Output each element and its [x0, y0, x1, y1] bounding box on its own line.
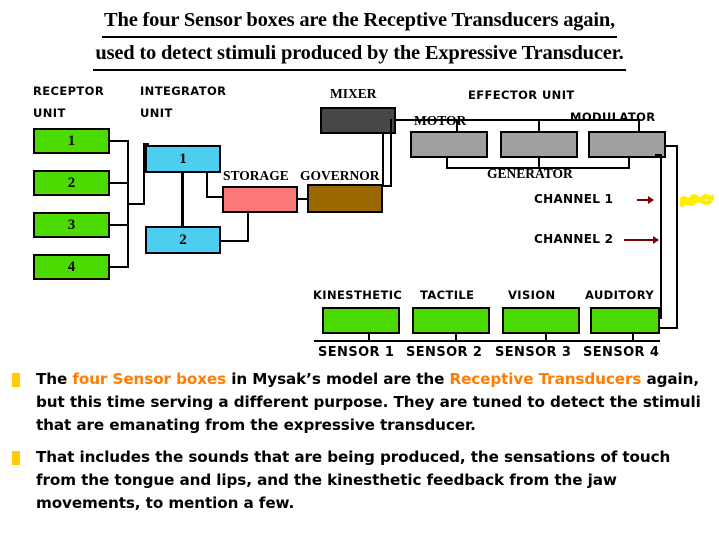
receptor-box-4[interactable]: 4 [33, 254, 110, 280]
sensor-box-3[interactable] [502, 307, 580, 334]
receptor-box-1[interactable]: 1 [33, 128, 110, 154]
integrator-box-1-label: 1 [179, 151, 187, 168]
sensor-4-bottom-label: SENSOR 4 [583, 345, 659, 360]
slide-title: The four Sensor boxes are the Receptive … [0, 6, 719, 71]
wire-right-rail-outer-bottom [660, 327, 678, 329]
bullet-2-seg-0: That includes the sounds that are being … [36, 448, 670, 512]
sensor-3-bottom-label: SENSOR 3 [495, 345, 571, 360]
label-integrator-unit-line2: UNIT [140, 106, 173, 120]
label-effector-unit: EFFECTOR UNIT [468, 88, 575, 102]
bullet-list: The four Sensor boxes in Mysak’s model a… [0, 368, 719, 524]
storage-box[interactable] [222, 186, 298, 213]
list-item: The four Sensor boxes in Mysak’s model a… [0, 368, 719, 437]
bullet-marker-icon [12, 373, 20, 387]
wire-right-rail-inner-top [655, 154, 662, 156]
wire-right-rail-inner [660, 154, 662, 304]
wire-sensor-bus [314, 340, 660, 342]
bullet-marker-icon [12, 451, 20, 465]
label-integrator-unit-line1: INTEGRATOR [140, 84, 226, 98]
channel-1-arrow-icon [637, 199, 653, 201]
bullet-1-seg-0: The [36, 370, 72, 388]
wire-integrator2-out [221, 240, 249, 242]
sensor-box-1[interactable] [322, 307, 400, 334]
label-governor: GOVERNOR [300, 168, 380, 184]
governor-box[interactable] [307, 184, 383, 213]
sensor-1-bottom-label: SENSOR 1 [318, 345, 394, 360]
label-motor: MOTOR [414, 113, 466, 129]
channel-1-label: CHANNEL 1 [534, 192, 613, 206]
generator-box[interactable] [500, 131, 578, 158]
label-receptor-unit-line1: RECEPTOR [33, 84, 104, 98]
bullet-1-text: The four Sensor boxes in Mysak’s model a… [36, 370, 701, 434]
title-line-1: The four Sensor boxes are the Receptive … [102, 6, 617, 38]
mixer-box[interactable] [320, 107, 396, 134]
label-receptor-unit-line2: UNIT [33, 106, 66, 120]
yellow-squiggle-icon [680, 192, 714, 208]
integrator-box-2[interactable]: 2 [145, 226, 221, 254]
receptor-box-4-label: 4 [68, 259, 76, 276]
sensor-box-4[interactable] [590, 307, 660, 334]
label-mixer: MIXER [330, 86, 377, 102]
receptor-box-2-label: 2 [68, 175, 76, 192]
wire-modulator-top [638, 119, 640, 131]
wire-integrator1-down [206, 173, 208, 198]
bullet-1-seg-1: four Sensor boxes [72, 370, 226, 388]
wire-storage-to-integrator2 [247, 212, 249, 242]
sensor-2-bottom-label: SENSOR 2 [406, 345, 482, 360]
receptor-box-2[interactable]: 2 [33, 170, 110, 196]
sensor-2-top-label: TACTILE [420, 288, 474, 302]
wire-mixer-to-governor [382, 134, 384, 185]
channel-2-arrow-icon [624, 239, 658, 241]
receptor-box-3-label: 3 [68, 217, 76, 234]
wire-integrator1-to-integrator2 [181, 173, 184, 226]
integrator-box-1[interactable]: 1 [145, 145, 221, 173]
list-item: That includes the sounds that are being … [0, 446, 719, 515]
label-modulator: MODULATOR [570, 110, 656, 124]
mysak-model-diagram: RECEPTOR UNIT INTEGRATOR UNIT MIXER EFFE… [0, 82, 719, 362]
wire-governor-to-motor-riser [390, 119, 392, 187]
label-storage: STORAGE [223, 168, 289, 184]
channel-2-label: CHANNEL 2 [534, 232, 613, 246]
integrator-box-2-label: 2 [179, 232, 187, 249]
bullet-2-text: That includes the sounds that are being … [36, 448, 670, 512]
bullet-1-seg-3: Receptive Transducers [449, 370, 641, 388]
title-line-2: used to detect stimuli produced by the E… [93, 39, 625, 71]
receptor-box-3[interactable]: 3 [33, 212, 110, 238]
wire-effector-bottom-bus [446, 167, 630, 169]
wire-storage-to-governor [298, 198, 307, 200]
wire-right-rail-outer [676, 145, 678, 329]
wire-effector-top-bus [456, 119, 640, 121]
sensor-1-top-label: KINESTHETIC [313, 288, 402, 302]
motor-box[interactable] [410, 131, 488, 158]
sensor-box-2[interactable] [412, 307, 490, 334]
sensor-3-top-label: VISION [508, 288, 556, 302]
receptor-box-1-label: 1 [68, 133, 76, 150]
sensor-4-top-label: AUDITORY [585, 288, 654, 302]
bullet-1-seg-2: in Mysak’s model are the [226, 370, 449, 388]
